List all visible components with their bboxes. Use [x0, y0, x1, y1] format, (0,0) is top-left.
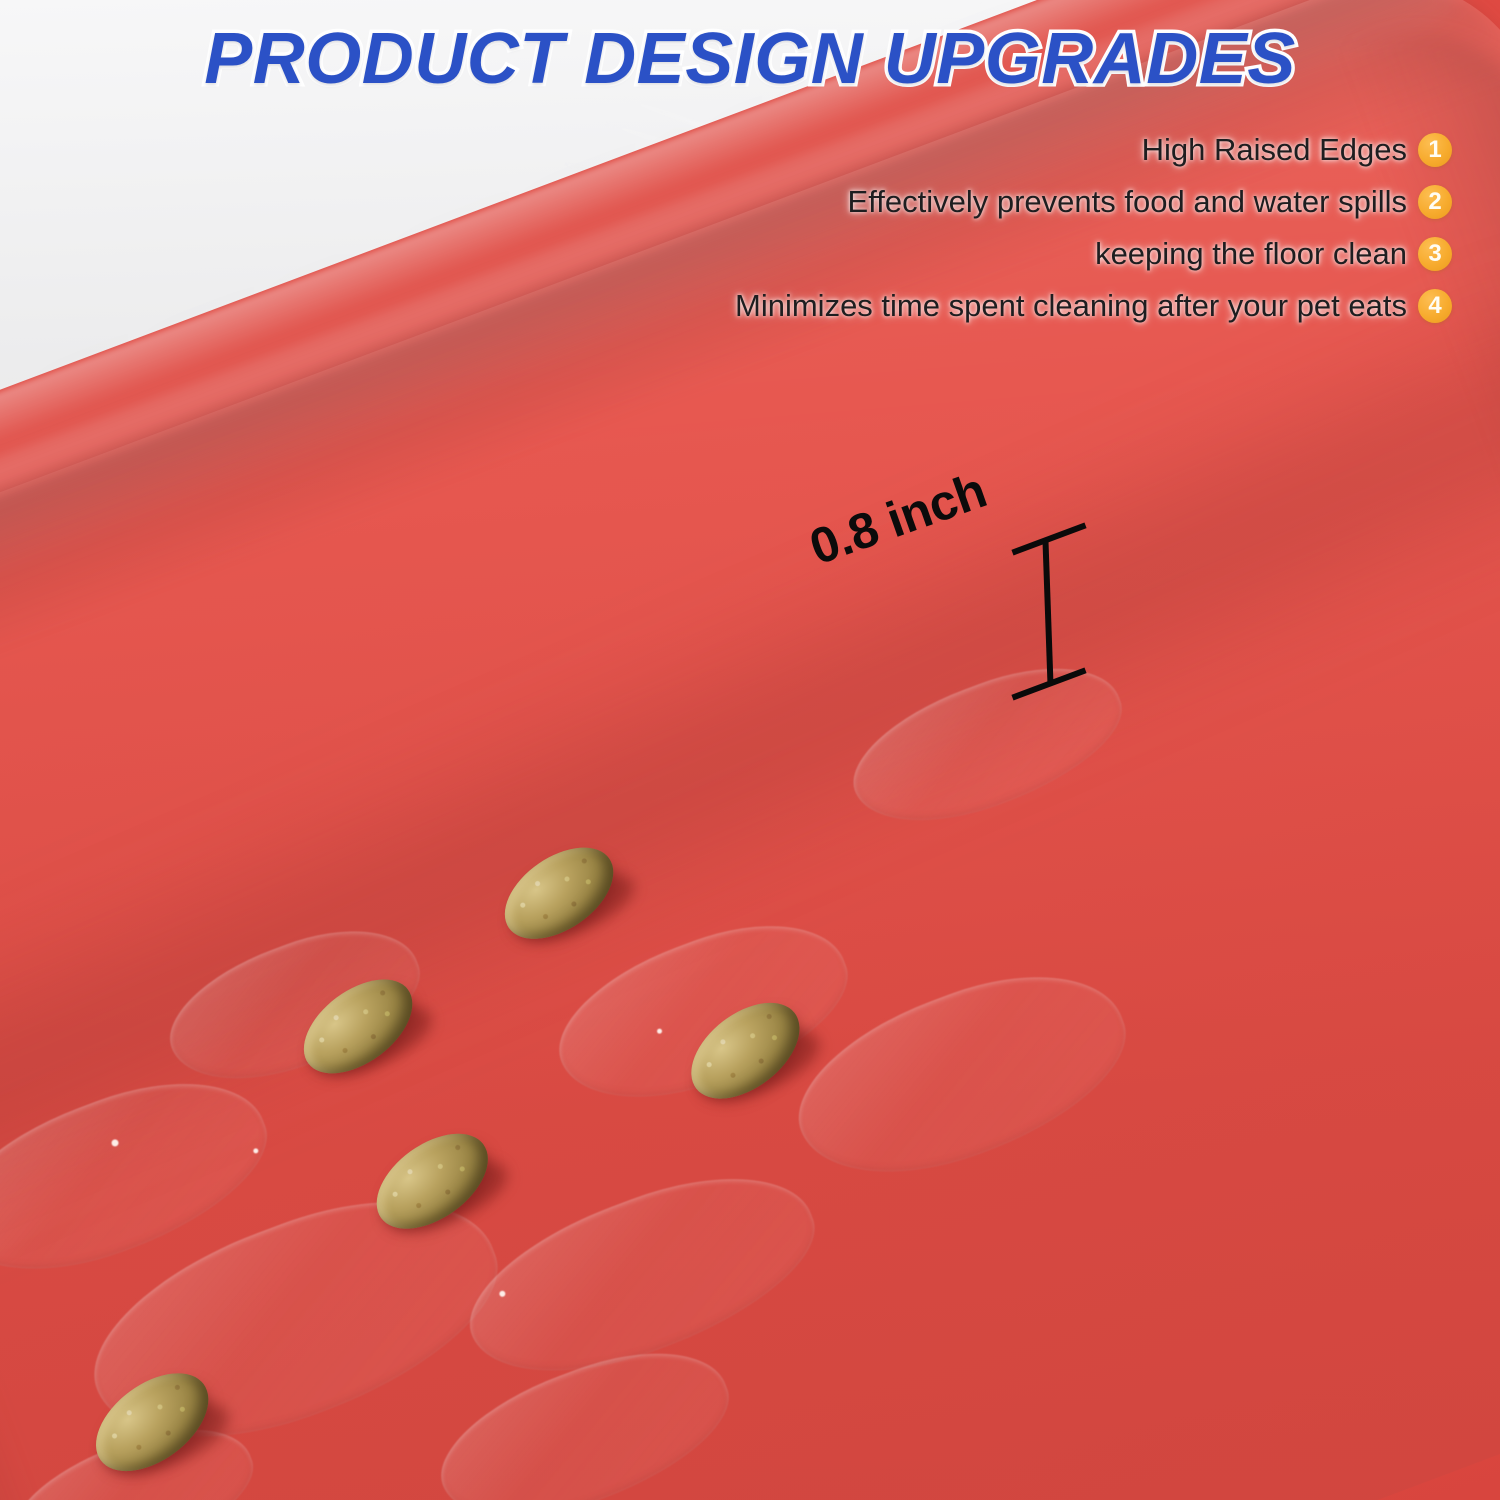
feature-item: Effectively prevents food and water spil… [552, 178, 1452, 226]
dimension-cap-top-icon [1011, 523, 1086, 556]
feature-item: keeping the floor clean 3 [552, 230, 1452, 278]
feature-number-badge: 1 [1418, 133, 1452, 167]
dimension-annotation: 0.8 inch [812, 500, 1112, 710]
feature-number-badge: 3 [1418, 237, 1452, 271]
page-title: PRODUCT DESIGN UPGRADES [0, 18, 1500, 100]
feature-label: Effectively prevents food and water spil… [848, 184, 1407, 220]
feature-number-badge: 4 [1418, 289, 1452, 323]
dimension-stem-icon [1043, 542, 1054, 684]
feature-item: Minimizes time spent cleaning after your… [552, 282, 1452, 330]
feature-label: Minimizes time spent cleaning after your… [735, 288, 1407, 324]
product-marketing-image: 0.8 inch PRODUCT DESIGN UPGRADES High Ra… [0, 0, 1500, 1500]
feature-number-badge: 2 [1418, 185, 1452, 219]
feature-item: High Raised Edges 1 [552, 126, 1452, 174]
feature-label: keeping the floor clean [1095, 236, 1407, 272]
feature-label: High Raised Edges [1142, 132, 1407, 168]
feature-list: High Raised Edges 1 Effectively prevents… [552, 126, 1452, 334]
